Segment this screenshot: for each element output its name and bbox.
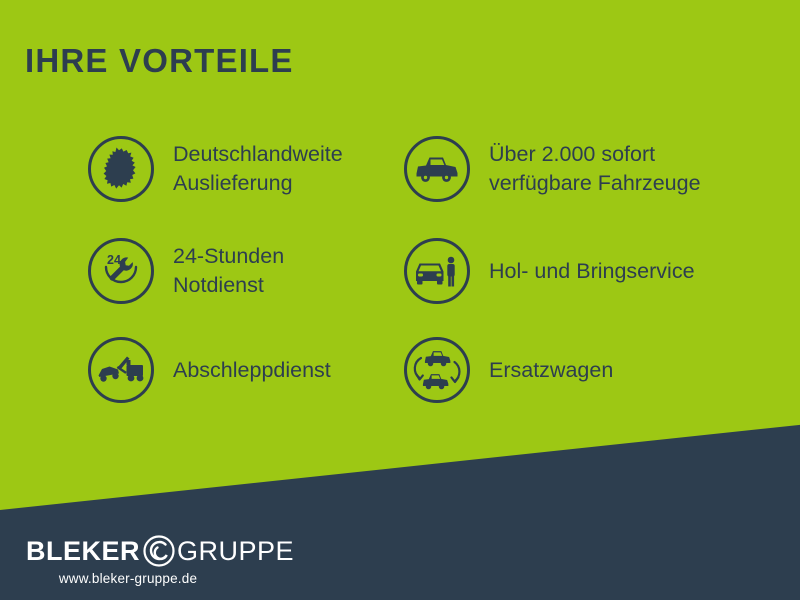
benefit-list-left: Deutschlandweite Auslieferung 24 24-Stun…	[88, 118, 398, 418]
list-item-label: 24-Stunden Notdienst	[173, 242, 284, 300]
germany-map-icon	[88, 136, 154, 202]
benefit-list-right: Über 2.000 sofort verfügbare Fahrzeuge	[404, 118, 784, 418]
list-item-label: Ersatzwagen	[489, 356, 613, 385]
list-item: Über 2.000 sofort verfügbare Fahrzeuge	[404, 118, 784, 220]
tow-truck-icon	[88, 337, 154, 403]
footer-logo: BLEKER GRUPPE www.bleker-gruppe.de	[26, 534, 294, 586]
list-item-label: Deutschlandweite Auslieferung	[173, 140, 343, 198]
car-side-icon	[404, 136, 470, 202]
list-item-label: Über 2.000 sofort verfügbare Fahrzeuge	[489, 140, 701, 198]
spiral-icon	[142, 534, 176, 568]
list-item: Abschleppdienst	[88, 322, 398, 418]
hours-badge-text: 24	[107, 253, 121, 267]
slide-canvas: IHRE VORTEILE Deutschlandweite Ausliefer…	[0, 0, 800, 600]
car-with-person-icon	[404, 238, 470, 304]
list-item: Hol- und Bringservice	[404, 220, 784, 322]
24-hour-wrench-icon: 24	[88, 238, 154, 304]
logo-primary-text: BLEKER	[26, 538, 140, 565]
logo-url-text: www.bleker-gruppe.de	[26, 571, 230, 586]
list-item-label: Hol- und Bringservice	[489, 257, 695, 286]
logo-row: BLEKER GRUPPE	[26, 534, 294, 568]
list-item: Ersatzwagen	[404, 322, 784, 418]
page-title: IHRE VORTEILE	[25, 44, 294, 77]
logo-secondary-text: GRUPPE	[177, 538, 294, 565]
car-exchange-icon	[404, 337, 470, 403]
list-item: Deutschlandweite Auslieferung	[88, 118, 398, 220]
list-item-label: Abschleppdienst	[173, 356, 331, 385]
list-item: 24 24-Stunden Notdienst	[88, 220, 398, 322]
